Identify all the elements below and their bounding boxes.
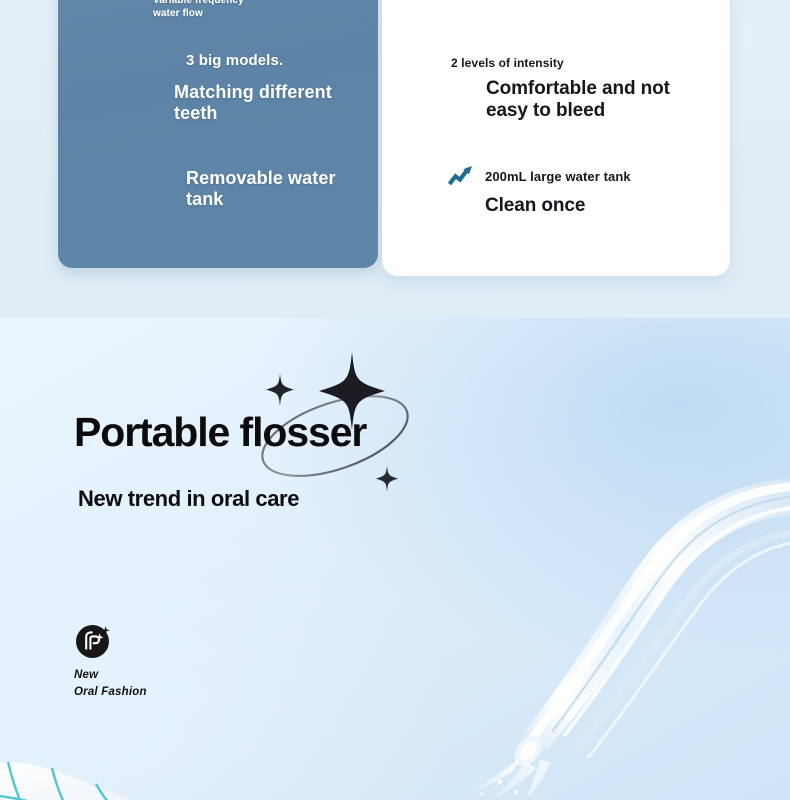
trending-up-arrow-icon <box>448 164 474 188</box>
brand-tagline-line-2: Oral Fashion <box>74 684 204 701</box>
hero-section <box>0 318 790 800</box>
comfortable-heading-line-1: Comfortable and not <box>486 78 716 100</box>
features-section: Variable frequency water flow 3 big mode… <box>0 0 790 318</box>
hero-subtitle: New trend in oral care <box>78 488 299 510</box>
removable-tank-heading: Removable water tank <box>186 168 378 210</box>
brand-tagline-line-1: New <box>74 667 204 684</box>
brand-logo-icon <box>74 620 114 660</box>
brand-block: New Oral Fashion <box>74 620 204 700</box>
caption-line-1: Variable frequency <box>153 0 244 8</box>
feature-card-blue: Variable frequency water flow 3 big mode… <box>58 0 378 268</box>
clean-once-heading: Clean once <box>485 195 585 217</box>
three-models-heading: 3 big models. <box>186 52 283 69</box>
water-tank-capacity-label: 200mL large water tank <box>485 169 631 184</box>
feature-card-white: 2 levels of intensity Comfortable and no… <box>382 0 730 276</box>
caption-line-2: water flow <box>153 8 244 21</box>
comfortable-heading: Comfortable and not easy to bleed <box>486 78 716 123</box>
comfortable-heading-line-2: easy to bleed <box>486 100 716 122</box>
variable-frequency-caption: Variable frequency water flow <box>153 0 244 20</box>
water-tank-row: 200mL large water tank <box>448 164 631 188</box>
matching-teeth-heading: Matching different teeth <box>174 82 378 124</box>
hero-title: Portable flosser <box>74 412 366 453</box>
intensity-levels-caption: 2 levels of intensity <box>451 56 564 70</box>
brand-tagline: New Oral Fashion <box>74 667 204 700</box>
product-detail-page: Variable frequency water flow 3 big mode… <box>0 0 790 800</box>
